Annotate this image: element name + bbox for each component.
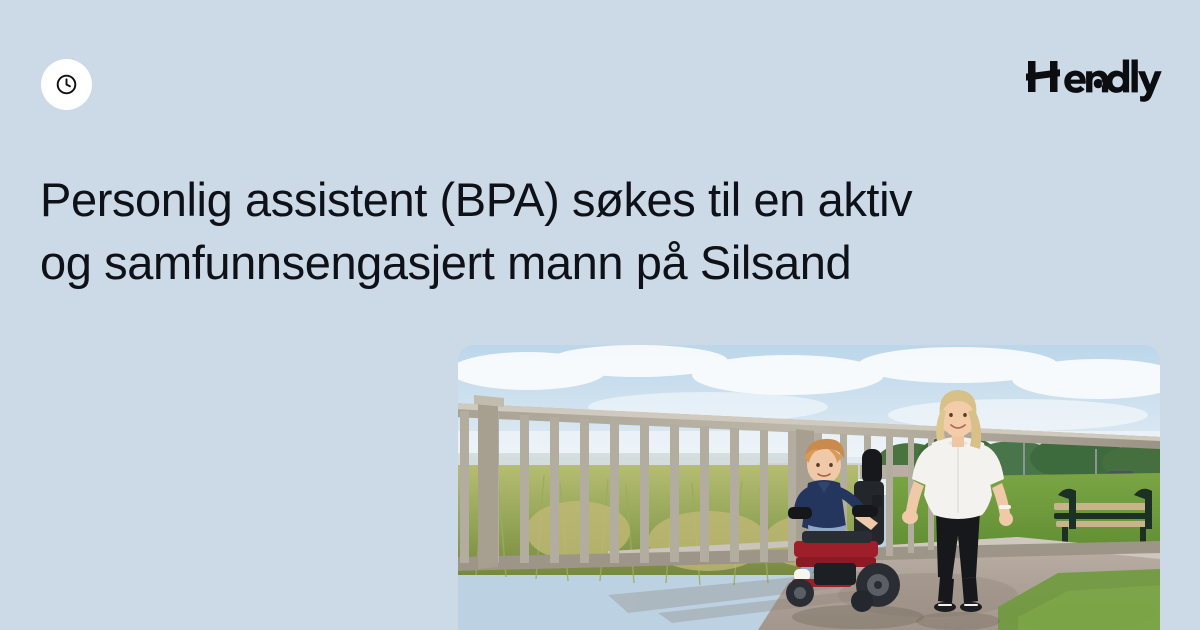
clock-icon	[55, 73, 78, 96]
brand-logo	[1026, 52, 1162, 108]
article-hero-image	[458, 345, 1160, 630]
clock-badge	[41, 59, 92, 110]
page-title: Personlig assistent (BPA) søkes til en a…	[40, 168, 1070, 294]
open-graph-card: Personlig assistent (BPA) søkes til en a…	[0, 0, 1200, 630]
